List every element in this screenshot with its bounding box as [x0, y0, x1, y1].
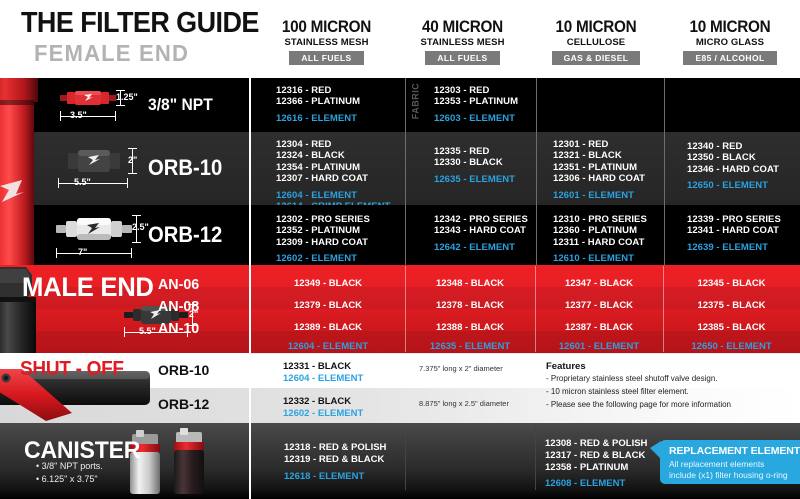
part-number-element: 12635 - ELEMENT — [434, 174, 536, 185]
column-micron-3: 10 MICRON — [672, 18, 789, 36]
shut-off-row-separator — [251, 353, 800, 354]
male-part-an08-c0: 12379 - BLACK — [251, 300, 405, 311]
cell-orb12-40micron: 12342 - PRO SERIES 12343 - HARD COAT 126… — [405, 205, 536, 265]
column-micron-0: 100 MICRON — [270, 18, 383, 36]
part-number: 12341 - HARD COAT — [687, 225, 800, 236]
page-title: THE FILTER GUIDE — [21, 7, 259, 40]
row-data-npt: 12316 - RED 12366 - PLATINUM 12616 - ELE… — [251, 78, 800, 132]
canister-bullet-1: • 6.125" x 3.75" — [36, 474, 98, 484]
part-number: 12307 - HARD COAT — [276, 173, 405, 184]
row-data-orb12: 12302 - PRO SERIES 12352 - PLATINUM 1230… — [251, 205, 800, 265]
male-part-an06-c2: 12347 - BLACK — [535, 278, 663, 289]
features-title: Features — [546, 361, 586, 372]
column-material-0: STAINLESS MESH — [264, 37, 389, 48]
part-number: 12324 - BLACK — [276, 150, 405, 161]
replacement-elements-callout: REPLACEMENT ELEMENTS All replacement ele… — [660, 440, 800, 484]
dimension-length-npt: 3.5" — [70, 110, 87, 120]
column-material-2: CELLULOSE — [532, 37, 660, 48]
feature-item-0: - Proprietary stainless steel shutoff va… — [546, 374, 718, 383]
part-number-element: 12616 - ELEMENT — [276, 113, 405, 124]
column-material-1: STAINLESS MESH — [400, 37, 525, 48]
part-number: 12354 - PLATINUM — [276, 162, 405, 173]
part-number: 12351 - PLATINUM — [553, 162, 664, 173]
male-element-c3: 12650 - ELEMENT — [663, 341, 800, 352]
male-element-c2: 12601 - ELEMENT — [535, 341, 663, 352]
callout-line-0: All replacement elements — [669, 459, 794, 470]
part-number-element: 12639 - ELEMENT — [687, 242, 800, 253]
part-number: 12343 - HARD COAT — [434, 225, 536, 236]
cell-npt-40micron: FABRIC 12303 - RED 12353 - PLATINUM 1260… — [405, 78, 536, 132]
row-label-npt: 3/8" NPT — [148, 95, 213, 115]
male-part-an10-c1: 12388 - BLACK — [405, 322, 535, 333]
male-part-an10-c0: 12389 - BLACK — [251, 322, 405, 333]
cell-npt-100micron: 12316 - RED 12366 - PLATINUM 12616 - ELE… — [251, 78, 405, 132]
dimension-length-male: 5.5" — [139, 326, 156, 336]
row-label-orb10: ORB-10 — [148, 155, 222, 181]
part-number-element: 12604 - ELEMENT — [276, 190, 405, 201]
cell-npt-10micron-microglass — [664, 78, 800, 132]
part-number: 12339 - PRO SERIES — [687, 214, 800, 225]
male-part-an08-c1: 12378 - BLACK — [405, 300, 535, 311]
dimension-length-orb12: 7" — [78, 247, 87, 257]
part-number: 12321 - BLACK — [553, 150, 664, 161]
row-label-shutoff-orb12: ORB-12 — [158, 396, 209, 412]
column-header-2: 10 MICRON CELLULOSE GAS & DIESEL — [532, 18, 660, 66]
cell-orb10-10micron-cellulose: 12301 - RED 12321 - BLACK 12351 - PLATIN… — [536, 132, 664, 205]
part-number: 12366 - PLATINUM — [276, 96, 405, 107]
section-subtitle-female-end: FEMALE END — [34, 40, 189, 67]
part-number: 12353 - PLATINUM — [434, 96, 536, 107]
male-part-an08-c2: 12377 - BLACK — [535, 300, 663, 311]
male-part-an06-c1: 12348 - BLACK — [405, 278, 535, 289]
cell-orb10-100micron: 12304 - RED 12324 - BLACK 12354 - PLATIN… — [251, 132, 405, 205]
canister-part-c2-0: 12308 - RED & POLISH — [545, 438, 647, 449]
row-label-shutoff-orb10: ORB-10 — [158, 362, 209, 378]
dimension-diameter-orb10: 2" — [128, 155, 137, 165]
male-part-an08-c3: 12375 - BLACK — [663, 300, 800, 311]
cell-npt-10micron-cellulose — [536, 78, 664, 132]
canister-artwork — [128, 428, 238, 498]
column-badge-0: ALL FUELS — [289, 51, 363, 65]
part-number: 12302 - PRO SERIES — [276, 214, 405, 225]
part-number: 12310 - PRO SERIES — [553, 214, 664, 225]
cell-orb12-10micron-cellulose: 12310 - PRO SERIES 12360 - PLATINUM 1231… — [536, 205, 664, 265]
shutoff-dimension-orb10: 7.375" long x 2" diameter — [419, 364, 503, 373]
shutoff-part-orb12: 12332 - BLACK — [283, 396, 351, 407]
part-number-element: 12603 - ELEMENT — [434, 113, 536, 124]
row-label-an08: AN-08 — [158, 298, 199, 315]
part-number-element: 12650 - ELEMENT — [687, 180, 800, 191]
shut-off-title: SHUT - OFF — [20, 358, 124, 381]
canister-part-c0-0: 12318 - RED & POLISH — [284, 442, 386, 453]
filter-guide-page: THE FILTER GUIDE FEMALE END 100 MICRON S… — [0, 0, 800, 499]
male-part-an10-c2: 12387 - BLACK — [535, 322, 663, 333]
canister-element-c0: 12618 - ELEMENT — [284, 471, 364, 482]
part-number: 12360 - PLATINUM — [553, 225, 664, 236]
column-header-0: 100 MICRON STAINLESS MESH ALL FUELS — [264, 18, 389, 66]
row-data-orb10: 12304 - RED 12324 - BLACK 12354 - PLATIN… — [251, 132, 800, 205]
dimension-length-orb10: 5.5" — [74, 177, 91, 187]
dimension-diameter-orb12: 2.5" — [132, 222, 149, 232]
part-number: 12304 - RED — [276, 139, 405, 150]
part-number: 12330 - BLACK — [434, 157, 536, 168]
part-number-element: 12610 - ELEMENT — [553, 253, 664, 264]
shutoff-element-orb10: 12604 - ELEMENT — [283, 373, 363, 384]
male-element-c0: 12604 - ELEMENT — [251, 341, 405, 352]
table-row-npt: 3.5" 1.25" 3/8" NPT 12316 - RED 12366 - … — [0, 78, 800, 132]
part-number: 12340 - RED — [687, 141, 800, 152]
column-header-3: 10 MICRON MICRO GLASS E85 / ALCOHOL — [665, 18, 795, 66]
part-number: 12342 - PRO SERIES — [434, 214, 536, 225]
red-filter-artwork — [0, 78, 60, 265]
canister-bullet-0: • 3/8" NPT ports. — [36, 461, 103, 471]
part-number-element: 12601 - ELEMENT — [553, 190, 664, 201]
part-number: 12346 - HARD COAT — [687, 164, 800, 175]
callout-line-1: include (x1) filter housing o-ring — [669, 470, 794, 481]
canister-part-c2-2: 12358 - PLATINUM — [545, 462, 628, 473]
cell-orb12-10micron-microglass: 12339 - PRO SERIES 12341 - HARD COAT 126… — [664, 205, 800, 265]
table-row-orb12: 7" 2.5" ORB-12 12302 - PRO SERIES 12352 … — [0, 205, 800, 265]
table-row-orb10: 5.5" 2" ORB-10 12304 - RED 12324 - BLACK… — [0, 132, 800, 205]
row-label-an10: AN-10 — [158, 320, 199, 337]
male-end-title: MALE END — [22, 272, 154, 303]
cell-orb10-40micron: 12335 - RED 12330 - BLACK 12635 - ELEMEN… — [405, 132, 536, 205]
column-badge-1: ALL FUELS — [425, 51, 499, 65]
part-number: 12335 - RED — [434, 146, 536, 157]
part-number-element: 12602 - ELEMENT — [276, 253, 405, 264]
part-number: 12309 - HARD COAT — [276, 237, 405, 248]
column-header-1: 40 MICRON STAINLESS MESH ALL FUELS — [400, 18, 525, 66]
vertical-divider — [249, 78, 251, 423]
part-number: 12311 - HARD COAT — [553, 237, 664, 248]
canister-part-c0-1: 12319 - RED & BLACK — [284, 454, 384, 465]
canister-element-c2: 12608 - ELEMENT — [545, 478, 625, 489]
feature-item-2: - Please see the following page for more… — [546, 400, 731, 409]
column-micron-2: 10 MICRON — [538, 18, 653, 36]
shutoff-part-orb10: 12331 - BLACK — [283, 361, 351, 372]
vertical-divider-lower — [249, 423, 251, 499]
column-badge-2: GAS & DIESEL — [552, 51, 641, 65]
column-badge-3: E85 / ALCOHOL — [683, 51, 776, 65]
shutoff-element-orb12: 12602 - ELEMENT — [283, 408, 363, 419]
callout-title: REPLACEMENT ELEMENTS — [669, 445, 794, 457]
male-element-c1: 12635 - ELEMENT — [405, 341, 535, 352]
part-number: 12306 - HARD COAT — [553, 173, 664, 184]
row-label-orb12: ORB-12 — [148, 222, 222, 248]
column-micron-1: 40 MICRON — [406, 18, 519, 36]
part-number: 12352 - PLATINUM — [276, 225, 405, 236]
row-label-an06: AN-06 — [158, 276, 199, 293]
dimension-diameter-npt: 1.25" — [116, 92, 138, 102]
cell-orb10-10micron-microglass: 12340 - RED 12350 - BLACK 12346 - HARD C… — [664, 132, 800, 205]
cell-orb12-100micron: 12302 - PRO SERIES 12352 - PLATINUM 1230… — [251, 205, 405, 265]
part-number: 12316 - RED — [276, 85, 405, 96]
part-number: 12350 - BLACK — [687, 152, 800, 163]
male-part-an06-c3: 12345 - BLACK — [663, 278, 800, 289]
part-number-element: 12642 - ELEMENT — [434, 242, 536, 253]
part-number: 12303 - RED — [434, 85, 536, 96]
column-material-3: MICRO GLASS — [665, 37, 795, 48]
fabric-tag: FABRIC — [410, 83, 420, 120]
canister-part-c2-1: 12317 - RED & BLACK — [545, 450, 645, 461]
feature-item-1: - 10 micron stainless steel filter eleme… — [546, 387, 689, 396]
part-number: 12301 - RED — [553, 139, 664, 150]
shutoff-dimension-orb12: 8.875" long x 2.5" diameter — [419, 399, 509, 408]
male-part-an10-c3: 12385 - BLACK — [663, 322, 800, 333]
page-header: THE FILTER GUIDE FEMALE END 100 MICRON S… — [0, 0, 800, 78]
male-part-an06-c0: 12349 - BLACK — [251, 278, 405, 289]
